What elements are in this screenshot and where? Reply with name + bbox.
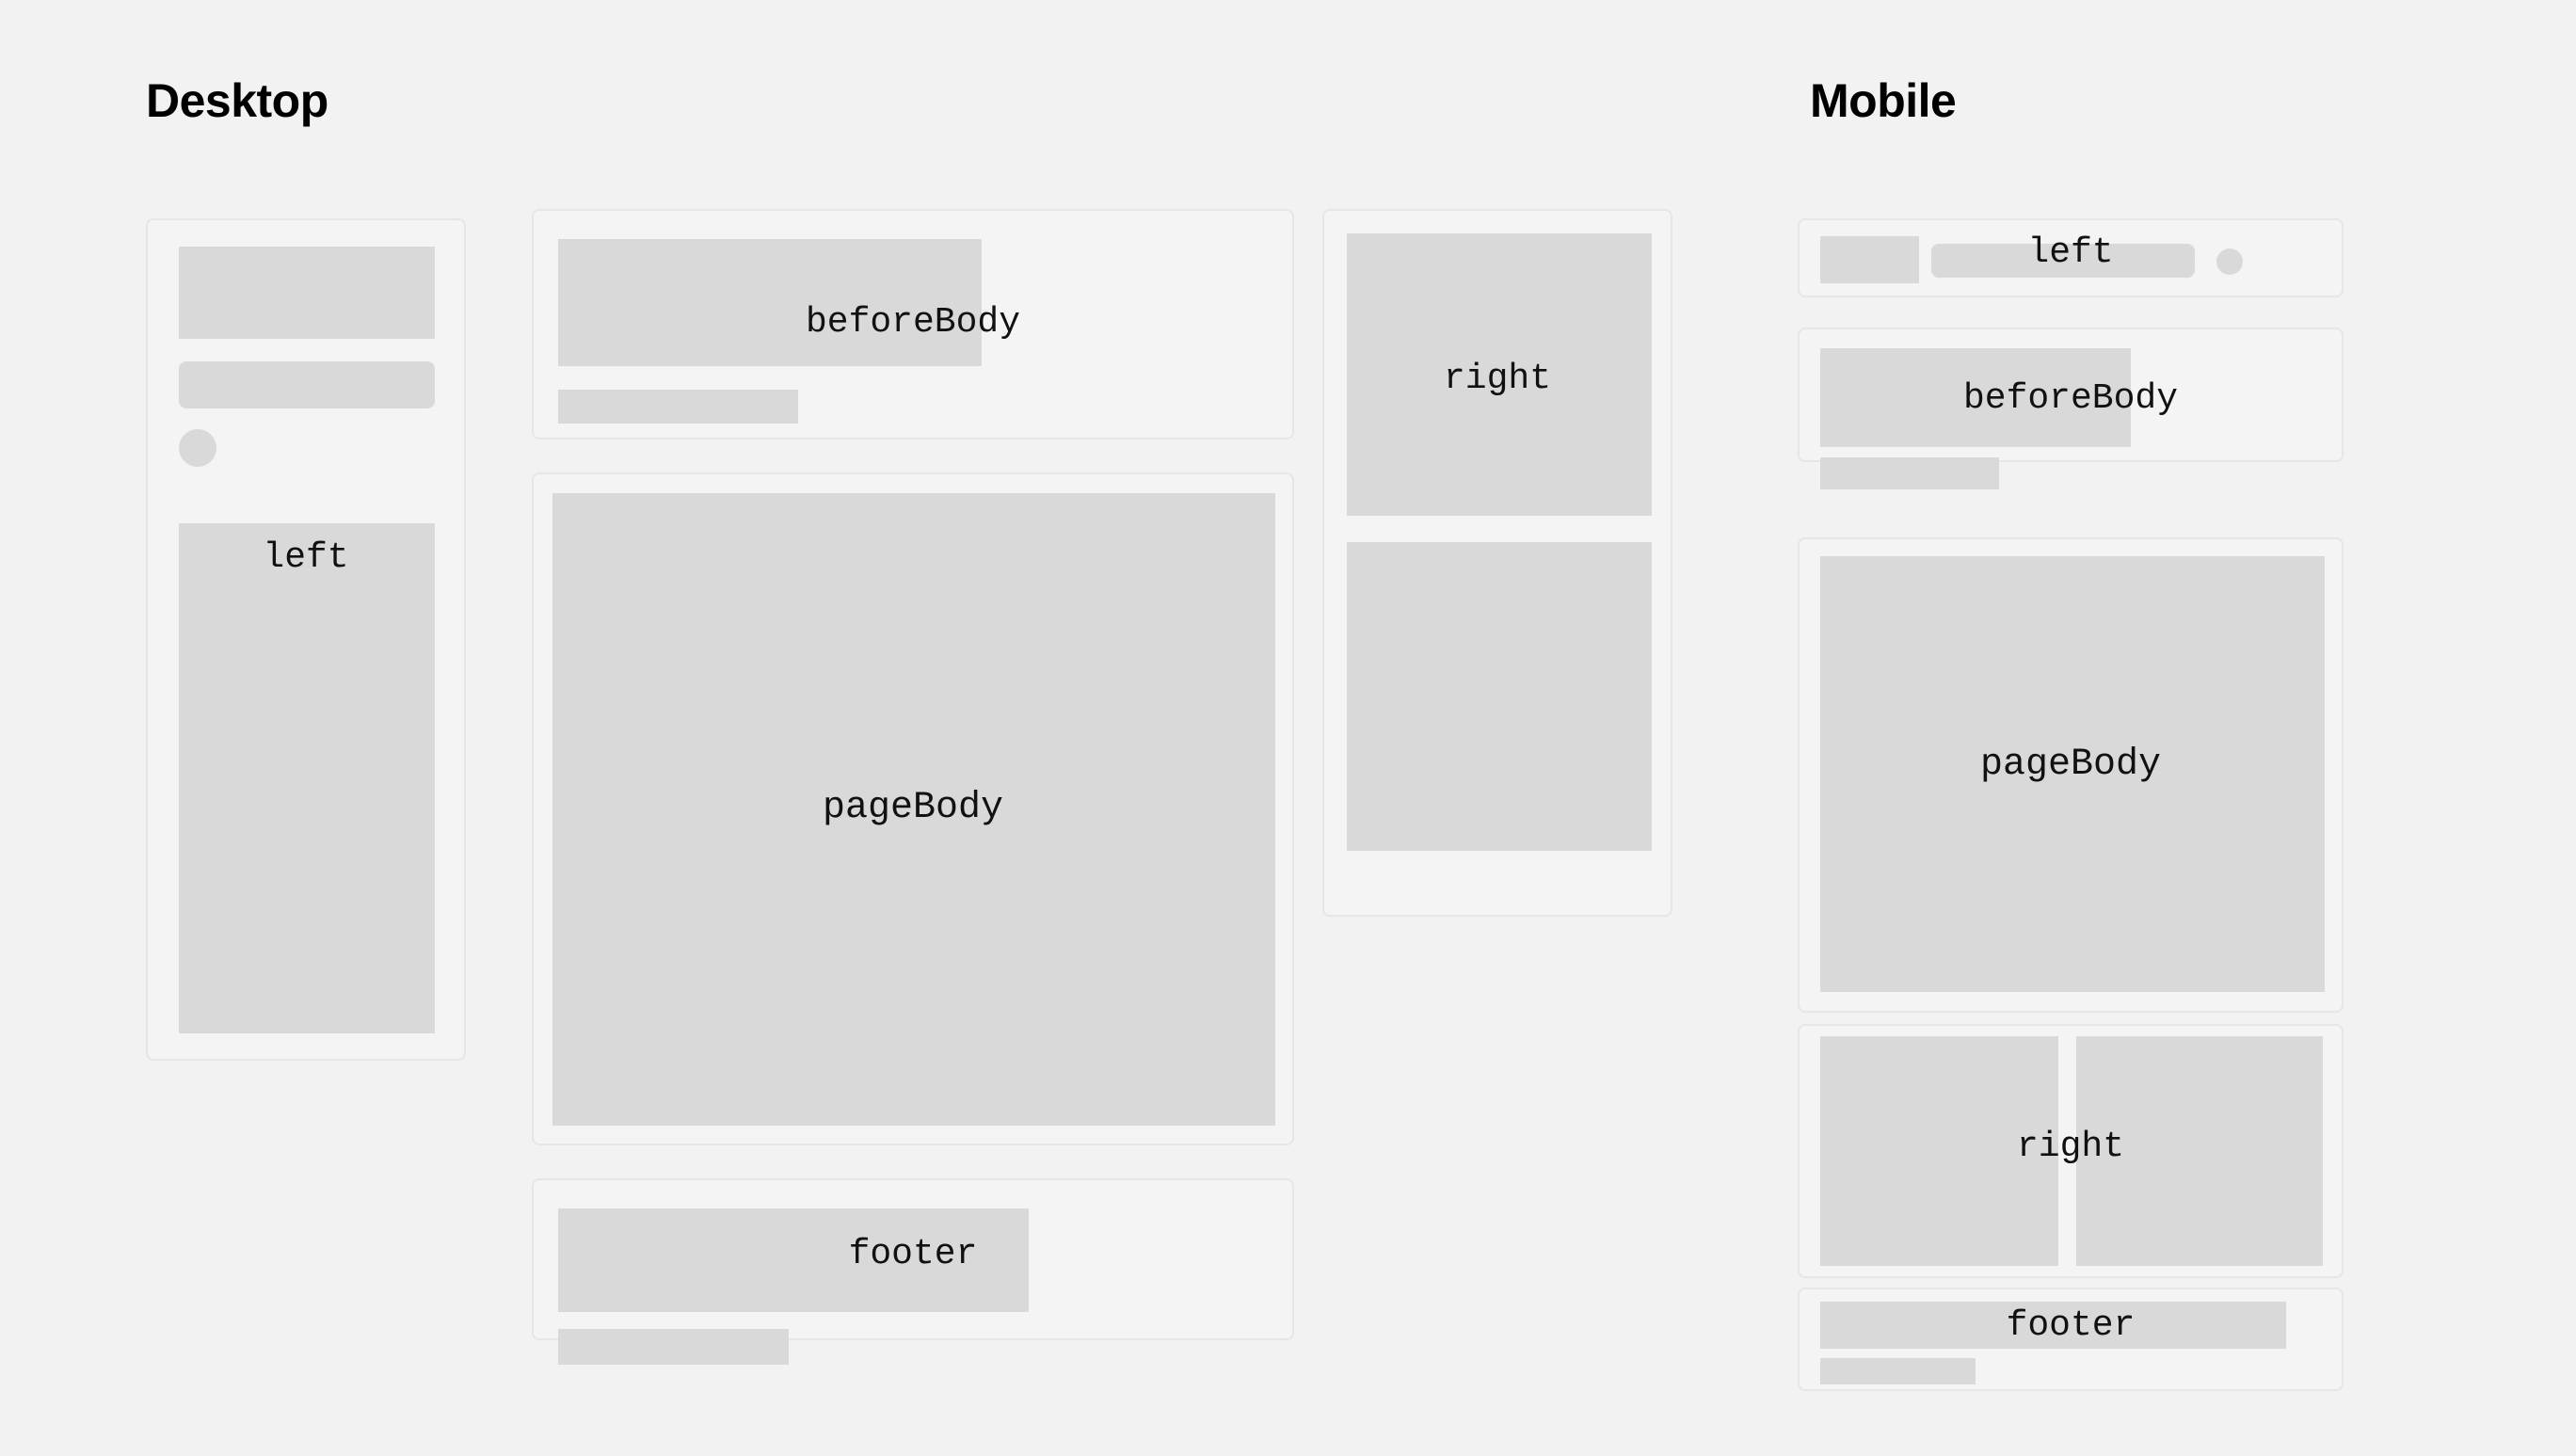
- placeholder-bar: [558, 390, 798, 424]
- placeholder-circle-icon: [179, 429, 216, 467]
- placeholder-block: [1347, 542, 1652, 851]
- placeholder-bar: [558, 1329, 789, 1365]
- desktop-right-slot-panel[interactable]: right: [1322, 209, 1672, 917]
- placeholder-block: [2076, 1036, 2323, 1266]
- desktop-footer-slot-panel[interactable]: footer: [532, 1178, 1294, 1340]
- placeholder-bar: [1931, 244, 2195, 278]
- placeholder-block: [558, 239, 982, 366]
- placeholder-block: [558, 1208, 1029, 1312]
- placeholder-bar: [179, 361, 435, 408]
- placeholder-block: [1820, 236, 1919, 283]
- mobile-left-slot-panel[interactable]: left: [1798, 218, 2344, 297]
- mobile-right-slot-panel[interactable]: right: [1798, 1024, 2344, 1278]
- mobile-section-title: Mobile: [1810, 77, 1956, 124]
- placeholder-block: [1820, 1302, 2286, 1349]
- desktop-left-slot-panel[interactable]: left: [146, 218, 466, 1061]
- placeholder-block: [552, 493, 1275, 1126]
- placeholder-bar: [1820, 1358, 1976, 1384]
- placeholder-block: [179, 247, 435, 339]
- desktop-page-body-slot-panel[interactable]: pageBody: [532, 472, 1294, 1145]
- placeholder-bar: [1820, 457, 1999, 489]
- desktop-before-body-slot-panel[interactable]: beforeBody: [532, 209, 1294, 440]
- placeholder-block: [1820, 556, 2325, 992]
- placeholder-block: [1820, 1036, 2058, 1266]
- placeholder-block: [1820, 348, 2131, 447]
- mobile-footer-slot-panel[interactable]: footer: [1798, 1288, 2344, 1391]
- desktop-section-title: Desktop: [146, 77, 328, 124]
- placeholder-circle-icon: [2216, 248, 2243, 275]
- placeholder-block: [1347, 233, 1652, 516]
- placeholder-block: [179, 523, 435, 1033]
- wireframe-stage: Desktop left beforeBody pageBody footer …: [0, 0, 2576, 1456]
- mobile-page-body-slot-panel[interactable]: pageBody: [1798, 537, 2344, 1013]
- mobile-before-body-slot-panel[interactable]: beforeBody: [1798, 328, 2344, 462]
